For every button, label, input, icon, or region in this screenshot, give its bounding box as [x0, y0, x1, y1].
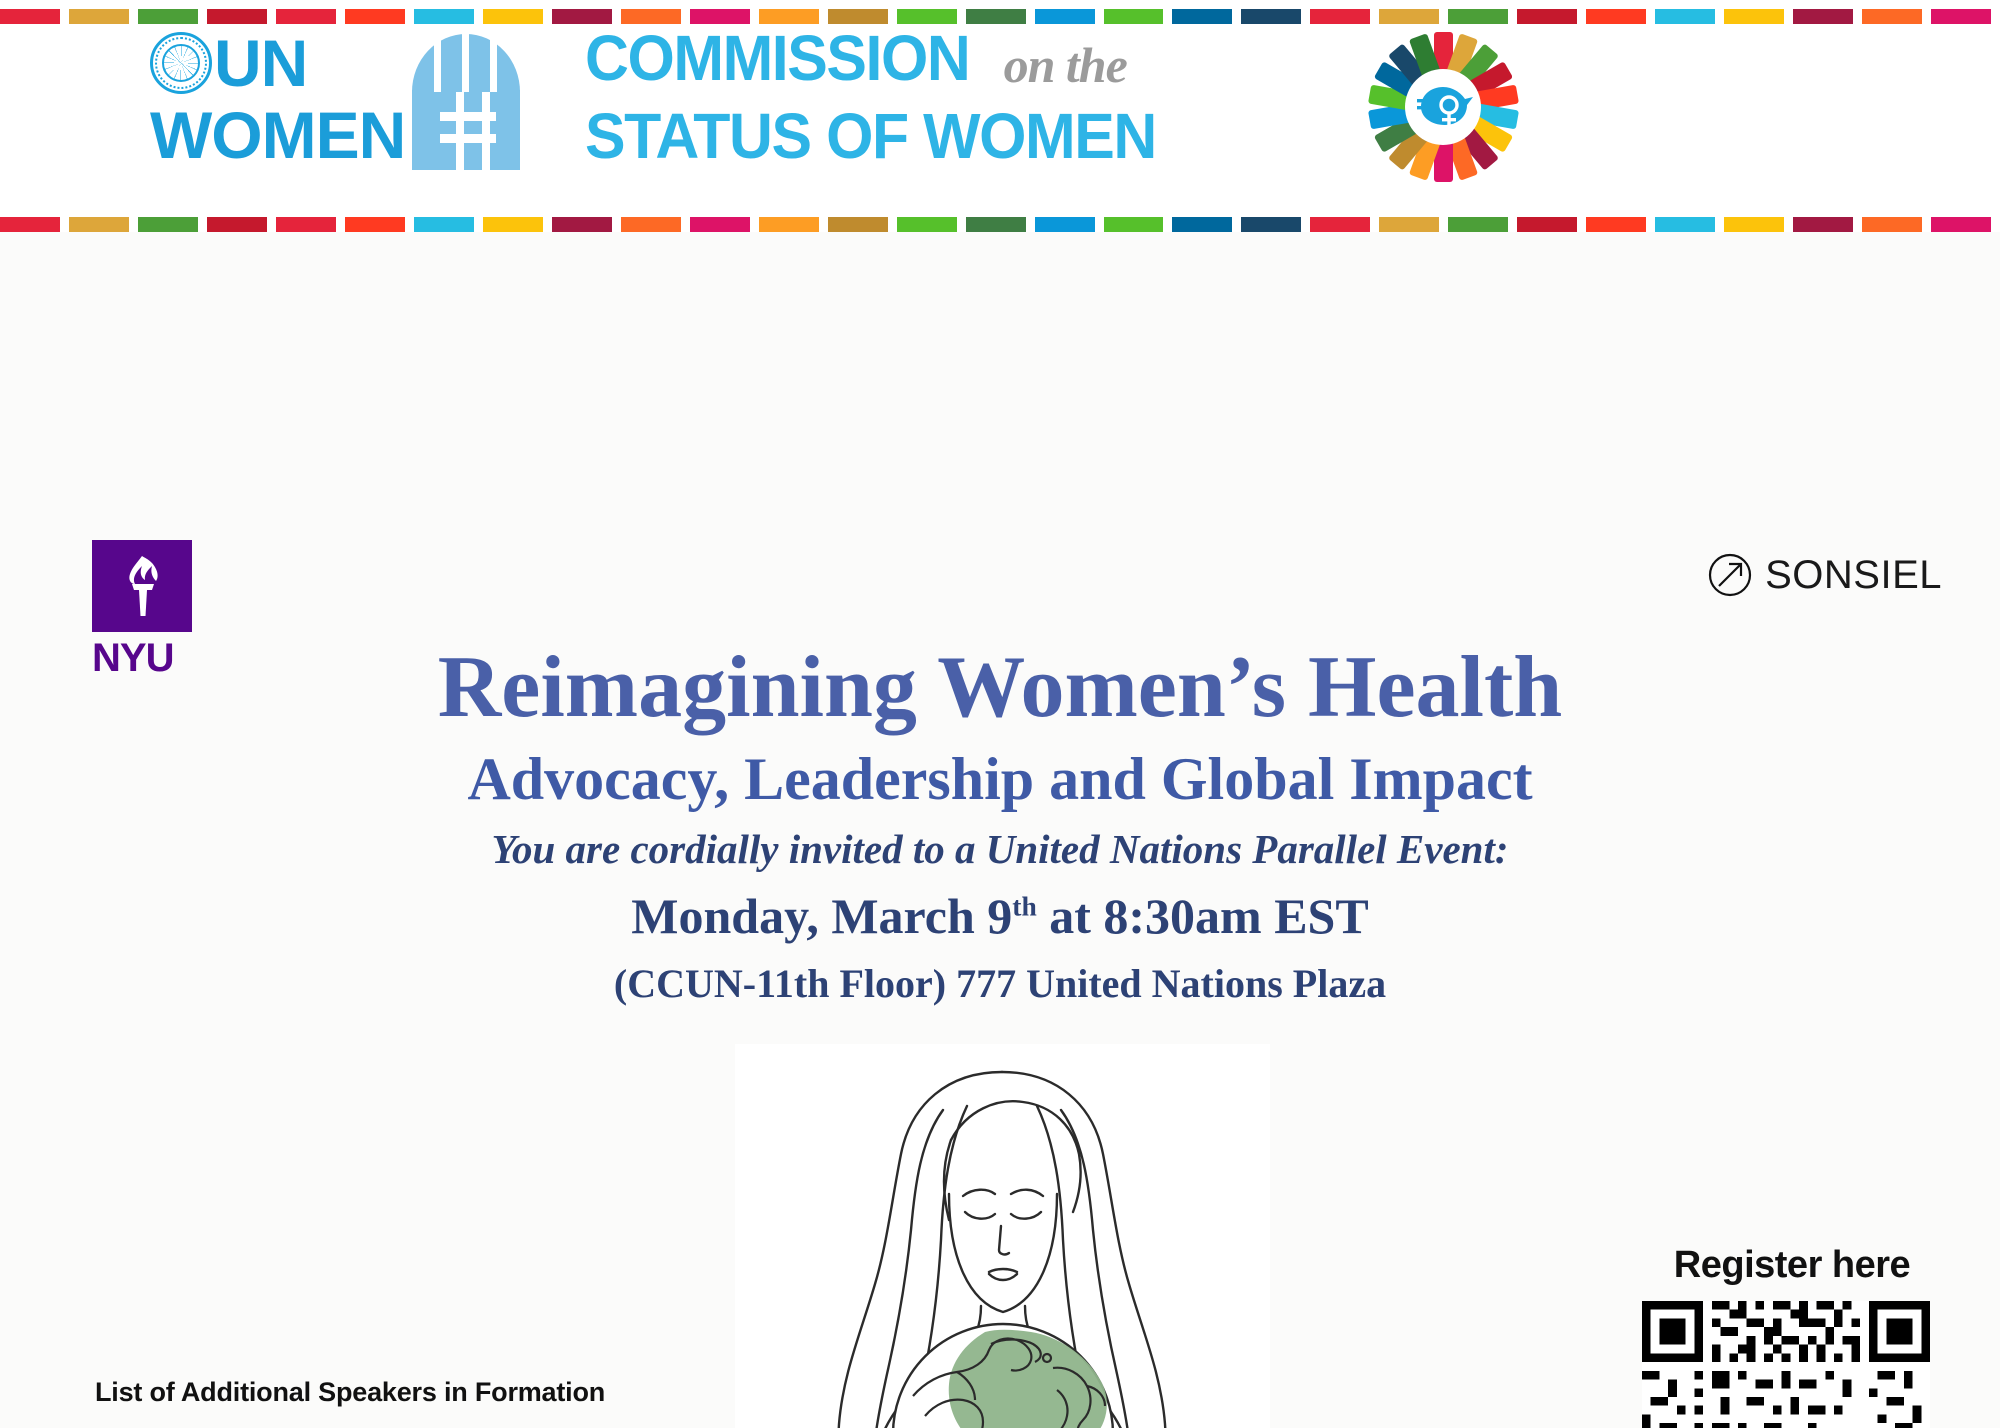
sdg-strip-segment [1931, 9, 1991, 24]
woman-holding-globe-illustration [735, 1044, 1270, 1428]
sdg-strip-segment [276, 9, 336, 24]
sdg-strip-segment [1793, 217, 1853, 232]
sdg-strip-segment [1035, 9, 1095, 24]
sdg-strip-segment [1241, 217, 1301, 232]
event-date-ordinal: th [1012, 890, 1036, 921]
registration-block[interactable]: Register here [1642, 1244, 1942, 1428]
sdg-wheel-icon [1368, 32, 1518, 182]
sdg-strip-segment [897, 217, 957, 232]
sdg-strip-segment [690, 217, 750, 232]
sdg-strip-segment [1172, 217, 1232, 232]
sdg-strip-segment [138, 9, 198, 24]
commission-on-the: on the [1004, 40, 1127, 90]
sdg-strip-segment [1655, 9, 1715, 24]
un-women-logo: UN WOMEN [150, 30, 520, 170]
sdg-strip-segment [1931, 217, 1991, 232]
sdg-strip-segment [1104, 9, 1164, 24]
register-here-label: Register here [1642, 1244, 1942, 1287]
sdg-strip-segment [483, 217, 543, 232]
event-venue-line: (CCUN-11th Floor) 777 United Nations Pla… [0, 961, 2000, 1007]
sdg-strip-segment [276, 217, 336, 232]
sdg-strip-segment [1379, 9, 1439, 24]
un-women-line1: UN [214, 32, 307, 94]
sdg-strip-segment [621, 217, 681, 232]
sdg-strip-segment [1655, 217, 1715, 232]
sdg-strip-segment [0, 9, 60, 24]
page-title: Reimagining Women’s Health [0, 642, 2000, 734]
nyu-torch-icon [112, 554, 172, 618]
sdg-strip-segment [759, 217, 819, 232]
sdg-strip-segment [414, 217, 474, 232]
sdg-strip-segment [138, 217, 198, 232]
sdg-color-strip-bottom [0, 212, 2000, 232]
commission-word: COMMISSION [585, 26, 969, 90]
event-date-prefix: Monday, March 9 [631, 888, 1012, 944]
sdg-strip-segment [1448, 217, 1508, 232]
sdg-strip-segment [1862, 9, 1922, 24]
un-women-symbol-icon [412, 30, 520, 170]
sdg-strip-segment [1724, 9, 1784, 24]
sdg-strip-segment [1862, 217, 1922, 232]
sdg-strip-segment [1035, 217, 1095, 232]
sdg-strip-segment [1586, 9, 1646, 24]
un-emblem-icon [150, 32, 212, 94]
additional-speakers-note: List of Additional Speakers in Formation [95, 1377, 605, 1408]
sdg-strip-segment [1724, 217, 1784, 232]
commission-subtitle: STATUS OF WOMEN [585, 104, 1307, 168]
event-subtitle: Advocacy, Leadership and Global Impact [0, 746, 2000, 812]
sdg-strip-segment [1241, 9, 1301, 24]
un-women-line2: WOMEN [150, 104, 405, 166]
sdg-strip-segment [1793, 9, 1853, 24]
registration-qr-code[interactable] [1642, 1301, 1930, 1428]
sdg-strip-segment [1517, 217, 1577, 232]
flyer-body: NYU SONSIEL Reimagining Women’s Health A… [0, 232, 2000, 1428]
event-time: at 8:30am EST [1037, 888, 1369, 944]
sdg-strip-segment [1517, 9, 1577, 24]
sdg-strip-segment [345, 217, 405, 232]
sdg-strip-segment [828, 217, 888, 232]
sdg-strip-segment [1172, 9, 1232, 24]
nyu-logo-square [92, 540, 192, 632]
sdg-strip-segment [483, 9, 543, 24]
header-banner: UN WOMEN [0, 0, 2000, 232]
commission-title-lockup: COMMISSION on the STATUS OF WOMEN [585, 26, 1345, 176]
sdg-strip-segment [1310, 9, 1370, 24]
sdg-strip-segment [0, 217, 60, 232]
sdg-strip-segment [207, 217, 267, 232]
sdg-strip-segment [1448, 9, 1508, 24]
sdg-strip-segment [1586, 217, 1646, 232]
sonsiel-arrow-icon [1707, 552, 1753, 598]
sdg-strip-segment [69, 217, 129, 232]
event-invitation-line: You are cordially invited to a United Na… [0, 826, 2000, 873]
sdg-strip-segment [966, 217, 1026, 232]
sdg-strip-segment [552, 217, 612, 232]
event-date-line: Monday, March 9th at 8:30am EST [0, 888, 2000, 946]
sdg-strip-segment [345, 9, 405, 24]
sonsiel-wordmark: SONSIEL [1765, 553, 1942, 598]
sdg-strip-segment [69, 9, 129, 24]
sdg-strip-segment [966, 9, 1026, 24]
un-women-dove-icon [1409, 73, 1477, 141]
sdg-strip-segment [207, 9, 267, 24]
sonsiel-logo: SONSIEL [1707, 552, 1942, 598]
sdg-strip-segment [1104, 217, 1164, 232]
sdg-color-strip-top [0, 4, 2000, 28]
sdg-strip-segment [414, 9, 474, 24]
sdg-strip-segment [1379, 217, 1439, 232]
sdg-strip-segment [1310, 217, 1370, 232]
event-title-block: Reimagining Women’s Health Advocacy, Lea… [0, 642, 2000, 1007]
